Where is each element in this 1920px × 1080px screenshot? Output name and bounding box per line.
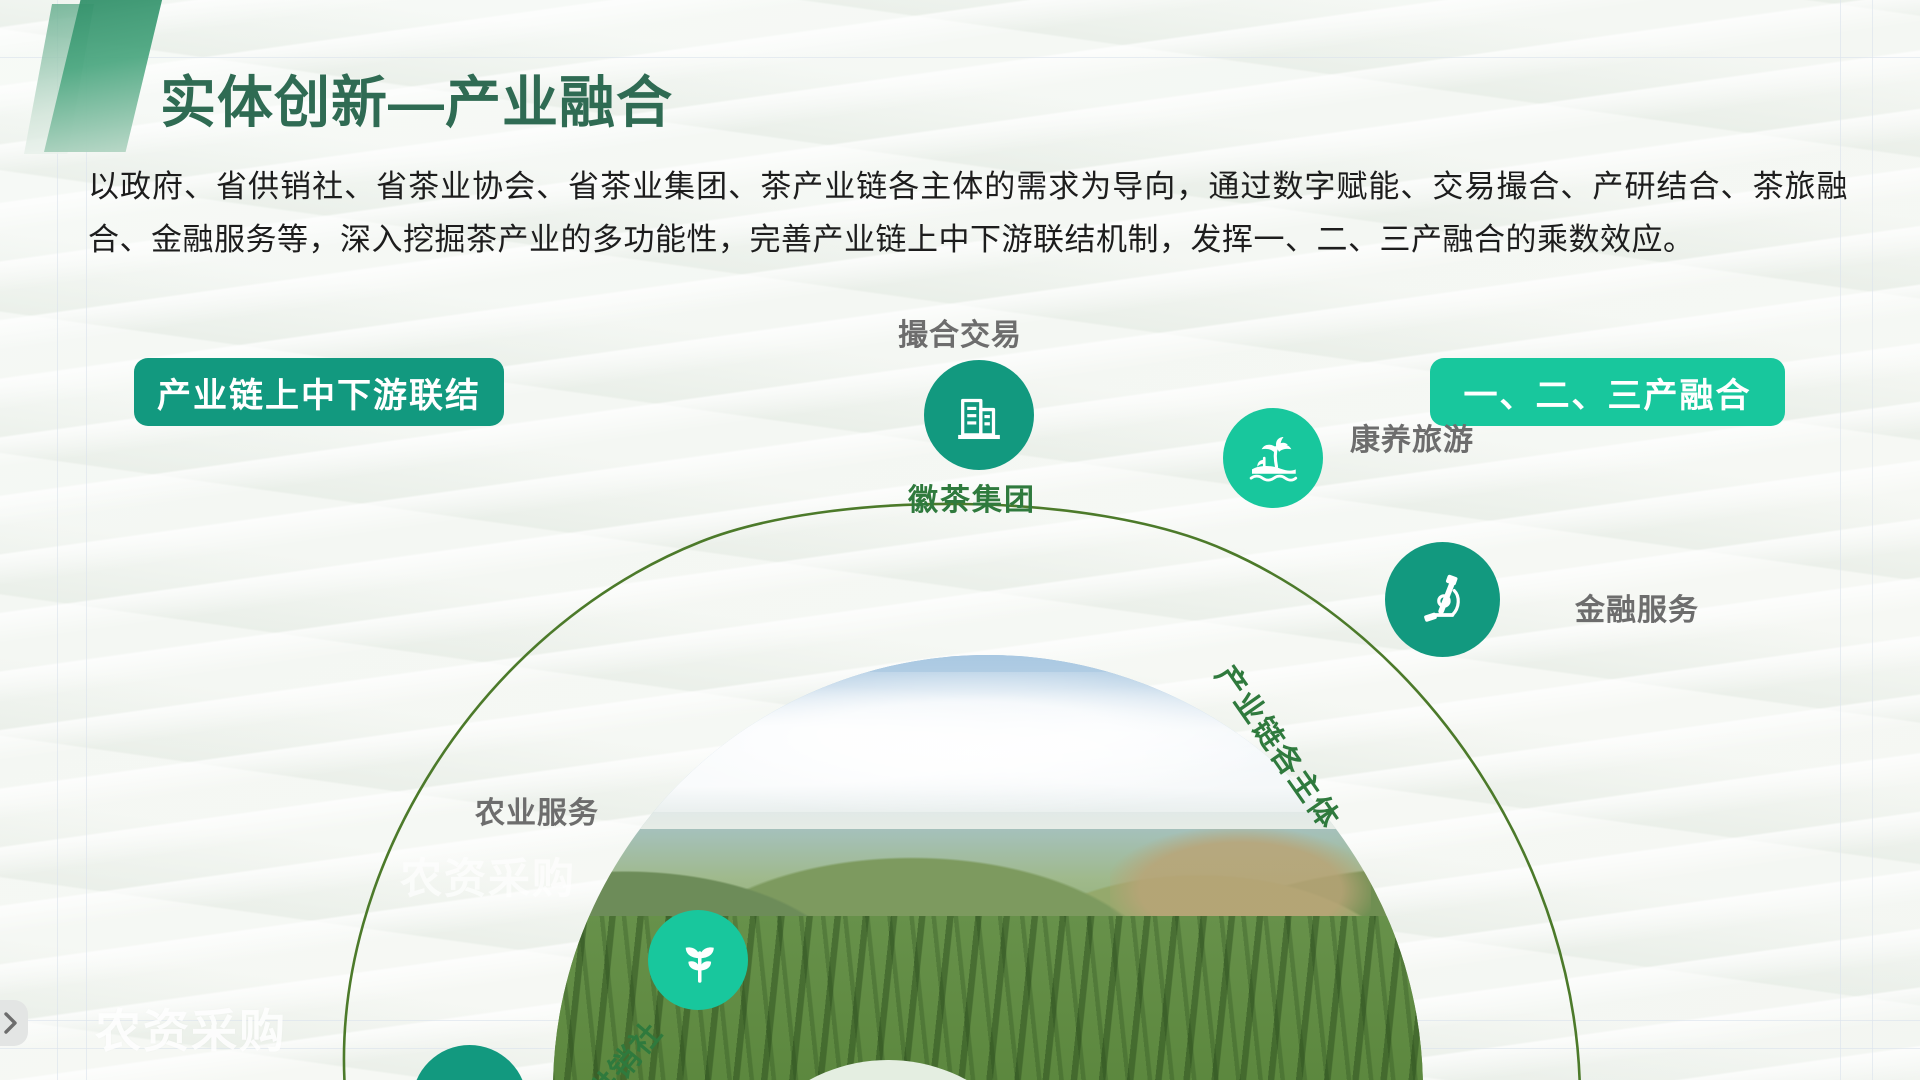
node-label-jinrong-fuwu: 金融服务 (1575, 585, 1699, 629)
building-icon (950, 386, 1008, 444)
leaf-branch-icon (670, 932, 726, 988)
money-bag-icon (439, 1072, 501, 1080)
node-icon-leaf-branch[interactable] (648, 910, 748, 1010)
slide-canvas: 实体创新—产业融合 以政府、省供销社、省茶业协会、省茶业集团、茶产业链各主体的需… (0, 0, 1920, 1080)
node-icon-island-palm[interactable] (1223, 408, 1323, 508)
node-label-nongye-fuwu: 农业服务 (475, 788, 599, 832)
island-palm-icon (1245, 430, 1301, 486)
node-icon-building[interactable] (924, 360, 1034, 470)
watermark-text-2: 农资采购 (400, 845, 576, 906)
intro-paragraph: 以政府、省供销社、省茶业协会、省茶业集团、茶产业链各主体的需求为导向，通过数字赋… (88, 160, 1848, 267)
arc-label-huicha-jituan: 徽茶集团 (908, 475, 1036, 519)
watermark-text: 农资采购 (95, 995, 287, 1061)
microscope-icon (1413, 570, 1473, 630)
node-label-kangyang-lvyou: 康养旅游 (1350, 415, 1474, 459)
node-icon-microscope[interactable] (1385, 542, 1500, 657)
industry-fusion-diagram: 农资采购 农资采购 政府 省供销社 徽茶集团 产业链各主体 茶叶协会 茶 产业 … (0, 400, 1920, 1080)
page-title: 实体创新—产业融合 (160, 58, 673, 139)
node-label-cuohe-jiaoyi: 撮合交易 (898, 310, 1022, 354)
